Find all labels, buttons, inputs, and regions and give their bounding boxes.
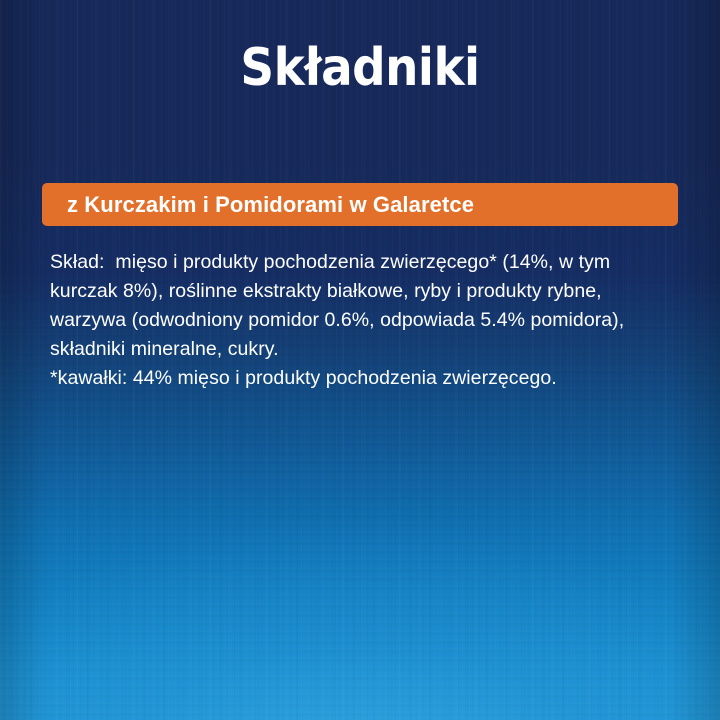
ingredients-line: warzywa (odwodniony pomidor 0.6%, odpowi… — [50, 306, 640, 335]
ingredients-text-block: Skład: mięso i produkty pochodzenia zwie… — [50, 248, 640, 393]
content-layer: Składniki z Kurczakim i Pomidorami w Gal… — [0, 0, 720, 720]
variant-banner: z Kurczakim i Pomidorami w Galaretce — [42, 183, 678, 226]
page-title: Składniki — [0, 40, 720, 96]
ingredients-line: Skład: mięso i produkty pochodzenia zwie… — [50, 248, 640, 277]
variant-banner-label: z Kurczakim i Pomidorami w Galaretce — [67, 193, 474, 217]
ingredients-line: kurczak 8%), roślinne ekstrakty białkowe… — [50, 277, 640, 306]
ingredients-line: składniki mineralne, cukry. — [50, 335, 640, 364]
product-ingredients-panel: Składniki z Kurczakim i Pomidorami w Gal… — [0, 0, 720, 720]
ingredients-footnote: *kawałki: 44% mięso i produkty pochodzen… — [50, 364, 640, 393]
